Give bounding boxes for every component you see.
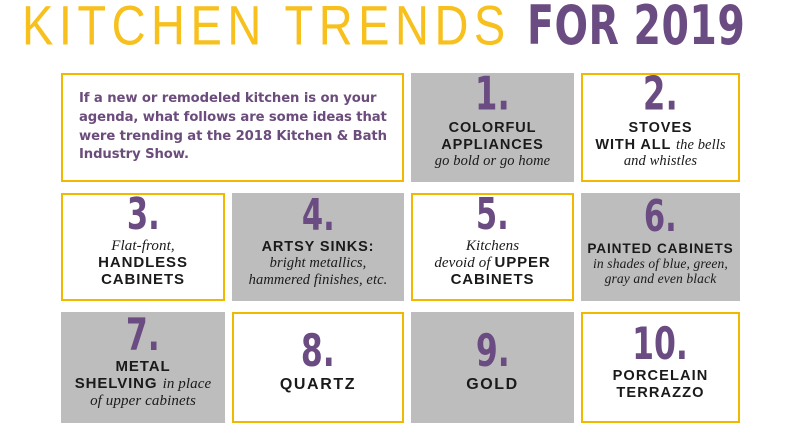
trend-label-line: STOVES	[595, 120, 725, 136]
trend-label-strong: UPPER	[494, 254, 550, 271]
trend-label-line: PAINTED CABINETS	[587, 241, 733, 256]
trend-label-line: bright metallics,	[249, 255, 388, 271]
trend-label-line: go bold or go home	[435, 153, 550, 169]
trend-number: 5.	[476, 197, 509, 234]
trend-label-strong: PAINTED CABINETS	[587, 241, 733, 256]
trend-label-strong: QUARTZ	[280, 376, 356, 393]
trend-label-line: SHELVING in place	[75, 376, 212, 393]
trend-number: 1.	[475, 77, 510, 117]
trend-card-9: 9.GOLD	[411, 312, 574, 423]
trend-label-line: hammered finishes, etc.	[249, 272, 388, 288]
trend-card-4: 4.ARTSY SINKS:bright metallics,hammered …	[232, 193, 404, 301]
title-main-text: KITCHEN TRENDS	[22, 0, 511, 53]
trend-label-italic: hammered finishes, etc.	[249, 272, 388, 288]
trend-label-strong: GOLD	[466, 376, 519, 393]
title-accent-text: FOR 2019	[527, 0, 745, 53]
trend-label-italic: in place	[163, 376, 212, 392]
trend-label-strong: ARTSY SINKS:	[262, 239, 375, 255]
trend-label-strong: APPLIANCES	[441, 137, 543, 153]
trend-label-italic: devoid of	[434, 255, 494, 271]
trend-label-line: HANDLESS	[98, 255, 188, 272]
trend-label-line: devoid of UPPER	[434, 255, 550, 272]
trend-card-2: 2.STOVESWITH ALL the bellsand whistles	[581, 73, 740, 182]
trend-label-line: APPLIANCES	[435, 137, 550, 153]
trends-grid: If a new or remodeled kitchen is on your…	[61, 73, 740, 423]
trend-label-italic: Kitchens	[466, 238, 519, 254]
trend-label-strong: COLORFUL	[449, 120, 537, 136]
trend-label-line: Flat-front,	[98, 238, 188, 255]
trend-card-10: 10.PORCELAINTERRAZZO	[581, 312, 740, 423]
trend-label-strong: WITH ALL	[595, 137, 676, 153]
trend-label-strong: CABINETS	[451, 271, 535, 288]
trend-number: 10.	[633, 326, 689, 365]
trend-label-italic: in shades of blue, green,	[593, 256, 728, 271]
trend-label-line: and whistles	[595, 153, 725, 169]
trend-label: COLORFULAPPLIANCESgo bold or go home	[435, 120, 550, 169]
trend-label-italic: of upper cabinets	[90, 393, 196, 409]
trend-label-line: in shades of blue, green,	[587, 256, 733, 271]
trend-label-strong: HANDLESS	[98, 254, 188, 271]
trend-number: 2.	[643, 77, 678, 117]
trend-number: 8.	[301, 333, 335, 372]
trend-card-7: 7.METALSHELVING in placeof upper cabinet…	[61, 312, 225, 423]
trend-label-line: gray and even black	[587, 271, 733, 286]
trend-label: STOVESWITH ALL the bellsand whistles	[595, 120, 725, 169]
trend-label-line: WITH ALL the bells	[595, 137, 725, 153]
trend-label-line: COLORFUL	[435, 120, 550, 136]
trend-card-1: 1.COLORFULAPPLIANCESgo bold or go home	[411, 73, 574, 182]
trend-label-italic: the bells	[676, 137, 726, 153]
trend-label: Kitchensdevoid of UPPERCABINETS	[434, 238, 550, 289]
trend-label-italic: go bold or go home	[435, 153, 550, 169]
trend-label-line: of upper cabinets	[75, 393, 212, 410]
trend-label: PORCELAINTERRAZZO	[613, 368, 709, 401]
trend-label-line: Kitchens	[434, 238, 550, 255]
trend-label-line: PORCELAIN	[613, 368, 709, 384]
trend-label-line: QUARTZ	[280, 376, 356, 394]
trend-label-strong: PORCELAIN	[613, 368, 709, 384]
trend-number: 6.	[644, 199, 677, 236]
trend-number: 3.	[127, 197, 160, 234]
intro-card: If a new or remodeled kitchen is on your…	[61, 73, 404, 182]
trend-label-italic: Flat-front,	[111, 238, 174, 254]
trend-label: QUARTZ	[280, 376, 356, 394]
trend-card-6: 6.PAINTED CABINETSin shades of blue, gre…	[581, 193, 740, 301]
trend-label: GOLD	[466, 376, 519, 394]
trend-card-8: 8.QUARTZ	[232, 312, 404, 423]
trend-label-line: TERRAZZO	[613, 385, 709, 401]
trend-label-italic: gray and even black	[605, 271, 717, 286]
trend-label-line: CABINETS	[434, 272, 550, 289]
trend-label: ARTSY SINKS:bright metallics,hammered fi…	[249, 239, 388, 288]
trend-label-line: CABINETS	[98, 272, 188, 289]
page-title: KITCHEN TRENDS FOR 2019	[22, 6, 778, 62]
trend-card-5: 5.Kitchensdevoid of UPPERCABINETS	[411, 193, 574, 301]
trend-label: Flat-front,HANDLESSCABINETS	[98, 238, 188, 289]
trend-label: PAINTED CABINETSin shades of blue, green…	[587, 241, 733, 287]
trend-label-italic: and whistles	[624, 153, 697, 169]
trend-label-strong: STOVES	[629, 120, 693, 136]
trend-card-3: 3.Flat-front,HANDLESSCABINETS	[61, 193, 225, 301]
trend-label-strong: TERRAZZO	[616, 385, 704, 401]
trend-number: 9.	[476, 333, 510, 372]
trend-number: 7.	[126, 317, 160, 356]
trend-label-italic: bright metallics,	[270, 255, 367, 271]
trend-label-line: ARTSY SINKS:	[249, 239, 388, 255]
trend-label-line: GOLD	[466, 376, 519, 394]
trend-label-strong: SHELVING	[75, 375, 163, 392]
intro-text: If a new or remodeled kitchen is on your…	[79, 90, 388, 165]
trend-number: 4.	[302, 198, 335, 235]
trend-label-line: METAL	[75, 359, 212, 376]
trend-label: METALSHELVING in placeof upper cabinets	[75, 359, 212, 410]
trend-label-strong: CABINETS	[101, 271, 185, 288]
